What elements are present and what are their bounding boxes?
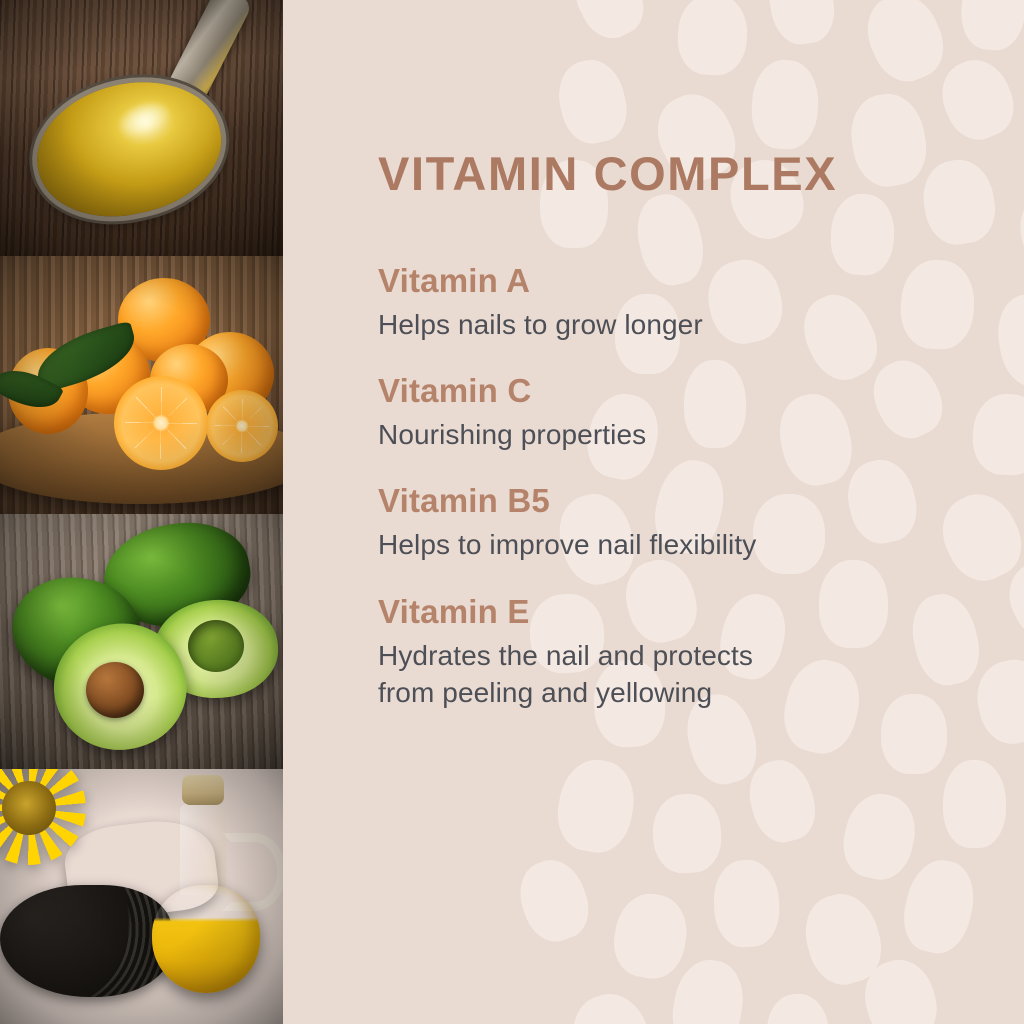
nail-shape <box>741 753 823 849</box>
nail-shape <box>844 88 932 191</box>
vitamin-name: Vitamin C <box>378 372 998 410</box>
nail-shape <box>676 0 749 77</box>
nail-shape <box>931 50 1024 149</box>
nail-shape <box>564 0 654 48</box>
nail-shape <box>957 0 1024 53</box>
nail-shape <box>667 955 750 1024</box>
vitamin-name: Vitamin B5 <box>378 482 998 520</box>
vitamin-description: Hydrates the nail and protectsfrom peeli… <box>378 637 998 711</box>
vitamin-name: Vitamin E <box>378 593 998 631</box>
photo-strip <box>0 0 283 1024</box>
nail-shape <box>511 852 598 949</box>
vitamin-name: Vitamin A <box>378 262 998 300</box>
nail-shape <box>917 155 1001 250</box>
vitamin-complex-poster: VITAMIN COMPLEX Vitamin A Helps nails to… <box>0 0 1024 1024</box>
nail-shape <box>1008 185 1024 290</box>
vitamin-item-a: Vitamin A Helps nails to grow longer <box>378 262 998 343</box>
nail-shape <box>857 952 946 1024</box>
vitamin-description: Helps to improve nail flexibility <box>378 526 998 563</box>
sunflower-center <box>2 781 56 835</box>
photo-avocados <box>0 514 283 769</box>
vitamin-item-e: Vitamin E Hydrates the nail and protects… <box>378 593 998 711</box>
photo-vignette <box>0 514 283 769</box>
photo-vignette <box>0 256 283 514</box>
nail-shape <box>552 54 634 149</box>
photo-vignette <box>0 0 283 256</box>
nail-shape <box>897 854 982 959</box>
content-pane: VITAMIN COMPLEX Vitamin A Helps nails to… <box>283 0 1024 1024</box>
page-title: VITAMIN COMPLEX <box>378 146 837 201</box>
nail-shape <box>997 549 1024 650</box>
nail-shape <box>552 754 641 857</box>
nail-shape <box>763 0 840 49</box>
nail-shape <box>943 760 1006 848</box>
nail-shape <box>712 858 781 948</box>
nail-shape <box>562 984 661 1024</box>
vitamin-description: Nourishing properties <box>378 416 998 453</box>
photo-sunflower-oil <box>0 769 283 1024</box>
nail-shape <box>796 886 890 992</box>
vitamin-item-c: Vitamin C Nourishing properties <box>378 372 998 453</box>
nail-shape <box>608 888 693 983</box>
vitamin-list: Vitamin A Helps nails to grow longer Vit… <box>378 262 998 711</box>
nail-shape <box>750 58 821 150</box>
photo-oranges <box>0 256 283 514</box>
nail-shape <box>651 792 723 874</box>
photo-spoon-of-oil <box>0 0 283 256</box>
nail-shape <box>856 0 954 91</box>
nail-shape <box>765 992 831 1024</box>
vitamin-description: Helps nails to grow longer <box>378 306 998 343</box>
vitamin-item-b5: Vitamin B5 Helps to improve nail flexibi… <box>378 482 998 563</box>
nail-shape <box>837 787 923 885</box>
